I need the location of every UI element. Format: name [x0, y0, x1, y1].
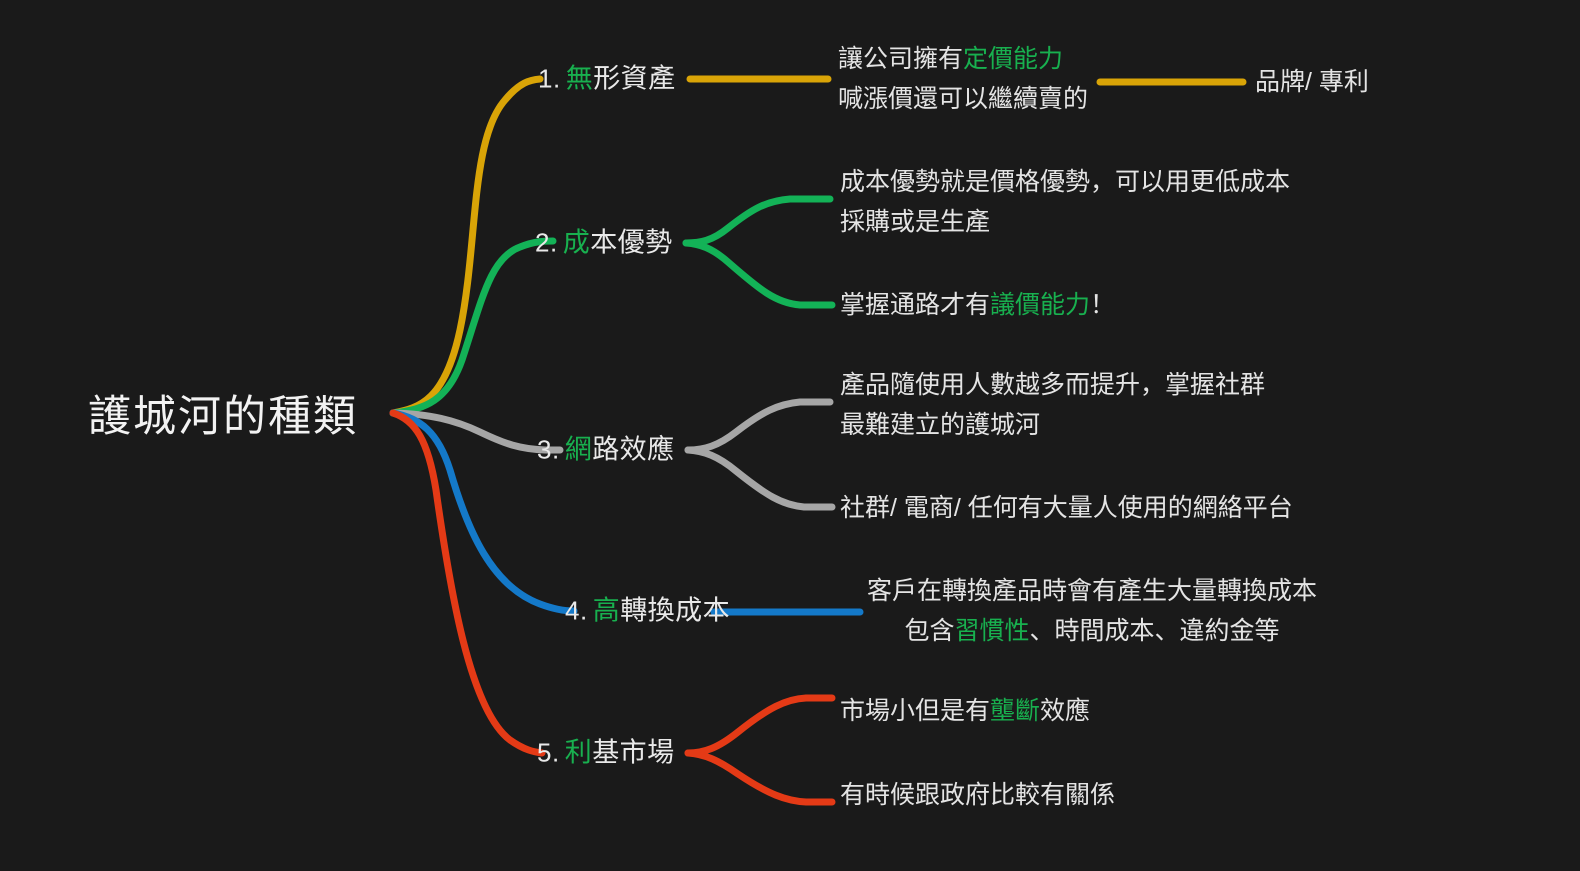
- branch-label-hl-2: 成: [563, 227, 591, 257]
- connector-branch-2-leaf-1: [686, 199, 830, 243]
- connector-root-to-branch-5: [393, 413, 542, 753]
- leaf-2-2[interactable]: 掌握通路才有議價能力！: [840, 285, 1115, 325]
- leaf-text: 喊漲價還可以繼續賣的: [838, 85, 1088, 113]
- connector-branch-3-leaf-1: [688, 402, 830, 450]
- leaf-line: 社群/ 電商/ 任何有大量人使用的網絡平台: [840, 488, 1293, 528]
- leaf-line: 品牌/ 專利: [1255, 62, 1369, 102]
- branch-label-hl-1: 無: [566, 63, 594, 93]
- leaf-line: 市場小但是有壟斷效應: [840, 691, 1090, 731]
- branch-label-hl-5: 利: [565, 737, 593, 767]
- leaf-text-highlight: 習慣性: [954, 617, 1029, 645]
- leaf-text: 成本優勢就是價格優勢，可以用更低成本: [840, 168, 1290, 196]
- leaf-text: 採購或是生產: [840, 208, 990, 236]
- leaf-2-1[interactable]: 成本優勢就是價格優勢，可以用更低成本 採購或是生產: [840, 162, 1290, 242]
- leaf-text: 掌握通路才有: [840, 291, 990, 319]
- mindmap-canvas: 護城河的種類 1.無形資產 讓公司擁有定價能力 喊漲價還可以繼續賣的 品牌/ 專…: [0, 0, 1580, 871]
- leaf-text: 品牌/ 專利: [1255, 68, 1369, 96]
- leaf-text: 社群/ 電商/ 任何有大量人使用的網絡平台: [840, 494, 1293, 522]
- leaf-line: 產品隨使用人數越多而提升，掌握社群: [840, 365, 1265, 405]
- leaf-text: 有時候跟政府比較有關係: [840, 781, 1115, 809]
- leaf-text: 最難建立的護城河: [840, 411, 1040, 439]
- leaf-3-1[interactable]: 產品隨使用人數越多而提升，掌握社群 最難建立的護城河: [840, 365, 1265, 445]
- branch-number-2: 2.: [535, 227, 558, 257]
- leaf-text: 讓公司擁有: [838, 45, 963, 73]
- branch-label-rest-4: 轉換成本: [620, 595, 730, 625]
- leaf-line: 喊漲價還可以繼續賣的: [838, 79, 1088, 119]
- branch-node-1[interactable]: 1.無形資產: [538, 63, 676, 94]
- branch-node-3[interactable]: 3.網路效應: [537, 434, 675, 465]
- leaf-line: 客戶在轉換產品時會有產生大量轉換成本: [867, 571, 1317, 611]
- leaf-text: 包含: [904, 617, 954, 645]
- leaf-text: ！: [1090, 291, 1115, 319]
- leaf-text: 、時間成本、違約金等: [1030, 617, 1280, 645]
- branch-label-hl-3: 網: [565, 434, 593, 464]
- leaf-line: 包含習慣性、時間成本、違約金等: [867, 611, 1317, 651]
- branch-label-rest-3: 路效應: [592, 434, 675, 464]
- leaf-text: 客戶在轉換產品時會有產生大量轉換成本: [867, 577, 1317, 605]
- leaf-4-1[interactable]: 客戶在轉換產品時會有產生大量轉換成本 包含習慣性、時間成本、違約金等: [867, 571, 1317, 651]
- branch-number-4: 4.: [565, 595, 588, 625]
- branch-label-rest-5: 基市場: [592, 737, 675, 767]
- branch-label-rest-2: 本優勢: [590, 227, 673, 257]
- leaf-line: 最難建立的護城河: [840, 405, 1265, 445]
- leaf-5-2[interactable]: 有時候跟政府比較有關係: [840, 775, 1115, 815]
- connector-branch-5-leaf-1: [688, 698, 832, 753]
- connector-root-to-branch-3: [393, 413, 560, 450]
- leaf-text: 產品隨使用人數越多而提升，掌握社群: [840, 371, 1265, 399]
- leaf-5-1[interactable]: 市場小但是有壟斷效應: [840, 691, 1090, 731]
- leaf-line: 讓公司擁有定價能力: [838, 39, 1088, 79]
- leaf-text: 市場小但是有: [840, 697, 990, 725]
- leaf-line: 掌握通路才有議價能力！: [840, 285, 1115, 325]
- leaf-text-highlight: 定價能力: [963, 45, 1063, 73]
- leaf-1-2[interactable]: 品牌/ 專利: [1255, 62, 1369, 102]
- branch-node-5[interactable]: 5.利基市場: [537, 737, 675, 768]
- leaf-text-highlight: 議價能力: [990, 291, 1090, 319]
- connector-root-to-branch-2: [393, 241, 553, 413]
- leaf-text-highlight: 壟斷: [990, 697, 1040, 725]
- branch-number-1: 1.: [538, 63, 561, 93]
- branch-node-4[interactable]: 4.高轉換成本: [565, 595, 730, 626]
- branch-node-2[interactable]: 2.成本優勢: [535, 227, 673, 258]
- leaf-line: 成本優勢就是價格優勢，可以用更低成本: [840, 162, 1290, 202]
- leaf-text: 效應: [1040, 697, 1090, 725]
- root-node-label: 護城河的種類: [88, 382, 358, 444]
- leaf-3-2[interactable]: 社群/ 電商/ 任何有大量人使用的網絡平台: [840, 488, 1293, 528]
- connector-branch-5-leaf-2: [688, 753, 832, 802]
- branch-number-5: 5.: [537, 737, 560, 767]
- connector-branch-2-leaf-2: [686, 243, 832, 305]
- connector-branch-3-leaf-2: [688, 450, 832, 507]
- leaf-line: 採購或是生產: [840, 202, 1290, 242]
- connector-root-to-branch-1: [393, 79, 540, 413]
- branch-label-hl-4: 高: [593, 595, 621, 625]
- leaf-1-1[interactable]: 讓公司擁有定價能力 喊漲價還可以繼續賣的: [838, 39, 1088, 119]
- branch-number-3: 3.: [537, 434, 560, 464]
- branch-label-rest-1: 形資產: [593, 63, 676, 93]
- leaf-line: 有時候跟政府比較有關係: [840, 775, 1115, 815]
